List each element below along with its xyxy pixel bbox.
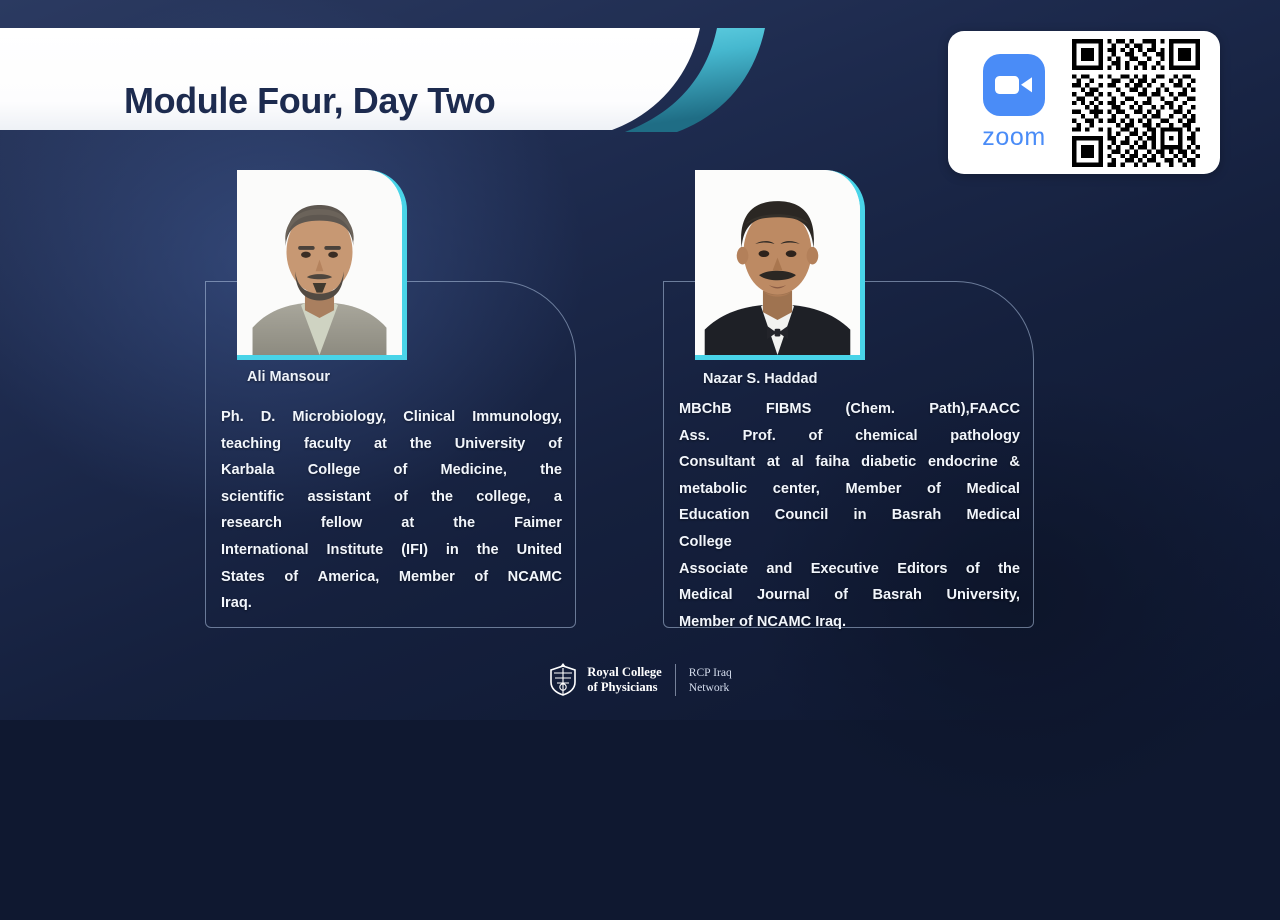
bio-line: scientificassistantofthecollege,a [221,484,562,511]
zoom-qr-card[interactable]: zoom [948,31,1220,174]
photo-image-2 [695,170,860,355]
zoom-meeting-qr-code[interactable] [1072,39,1200,167]
network-line-2: Network [689,680,732,696]
bio-line: Member of NCAMC Iraq. [679,609,1020,636]
bio-line: EducationCouncilinBasrahMedical [679,502,1020,529]
bio-line: KarbalaCollegeofMedicine,the [221,457,562,484]
bio-line: College [679,529,1020,556]
network-line-1: RCP Iraq [689,665,732,681]
zoom-wordmark: zoom [982,123,1046,152]
zoom-logo: zoom [960,54,1068,152]
speaker-bio-1: Ph.D.Microbiology,ClinicalImmunology,tea… [221,404,562,617]
bio-line: InternationalInstitute(IFI)intheUnited [221,537,562,564]
bio-line: Iraq. [221,590,562,617]
bio-line: MedicalJournalofBasrahUniversity, [679,582,1020,609]
title-banner: Module Four, Day Two [0,28,830,136]
speaker-name-1: Ali Mansour [247,369,330,385]
royal-college-of-physicians-crest [548,662,578,698]
bio-line: Ph.D.Microbiology,ClinicalImmunology, [221,404,562,431]
rcp-iraq-network-label: RCP Iraq Network [689,665,732,696]
speaker-name-2: Nazar S. Haddad [703,371,817,387]
speaker-bio-2: MBChBFIBMS(Chem.Path),FAACCAss.Prof.ofch… [679,396,1020,635]
speaker-photo-nazar-haddad [695,170,865,360]
photo-image-1 [237,170,402,355]
bio-line: AssociateandExecutiveEditorsofthe [679,556,1020,583]
speaker-photo-ali-mansour [237,170,407,360]
bio-line: metaboliccenter,MemberofMedical [679,476,1020,503]
bio-line: StatesofAmerica,MemberofNCAMC [221,564,562,591]
page-title: Module Four, Day Two [124,80,495,122]
bio-line: MBChBFIBMS(Chem.Path),FAACC [679,396,1020,423]
org-line-2: of Physicians [587,680,662,695]
footer: Royal College of Physicians RCP Iraq Net… [0,662,1280,698]
bio-line: Consultantatalfaihadiabeticendocrine& [679,449,1020,476]
bio-line: teachingfacultyattheUniversityof [221,431,562,458]
royal-college-of-physicians-logo: Royal College of Physicians [548,662,662,698]
footer-divider [675,664,676,696]
slide-canvas: Module Four, Day Two zoom [0,0,1280,720]
bio-line: Ass.Prof.ofchemicalpathology [679,423,1020,450]
zoom-video-camera-icon [983,54,1045,116]
royal-college-of-physicians-wordmark: Royal College of Physicians [587,665,662,695]
bio-line: researchfellowattheFaimer [221,510,562,537]
org-line-1: Royal College [587,665,662,680]
